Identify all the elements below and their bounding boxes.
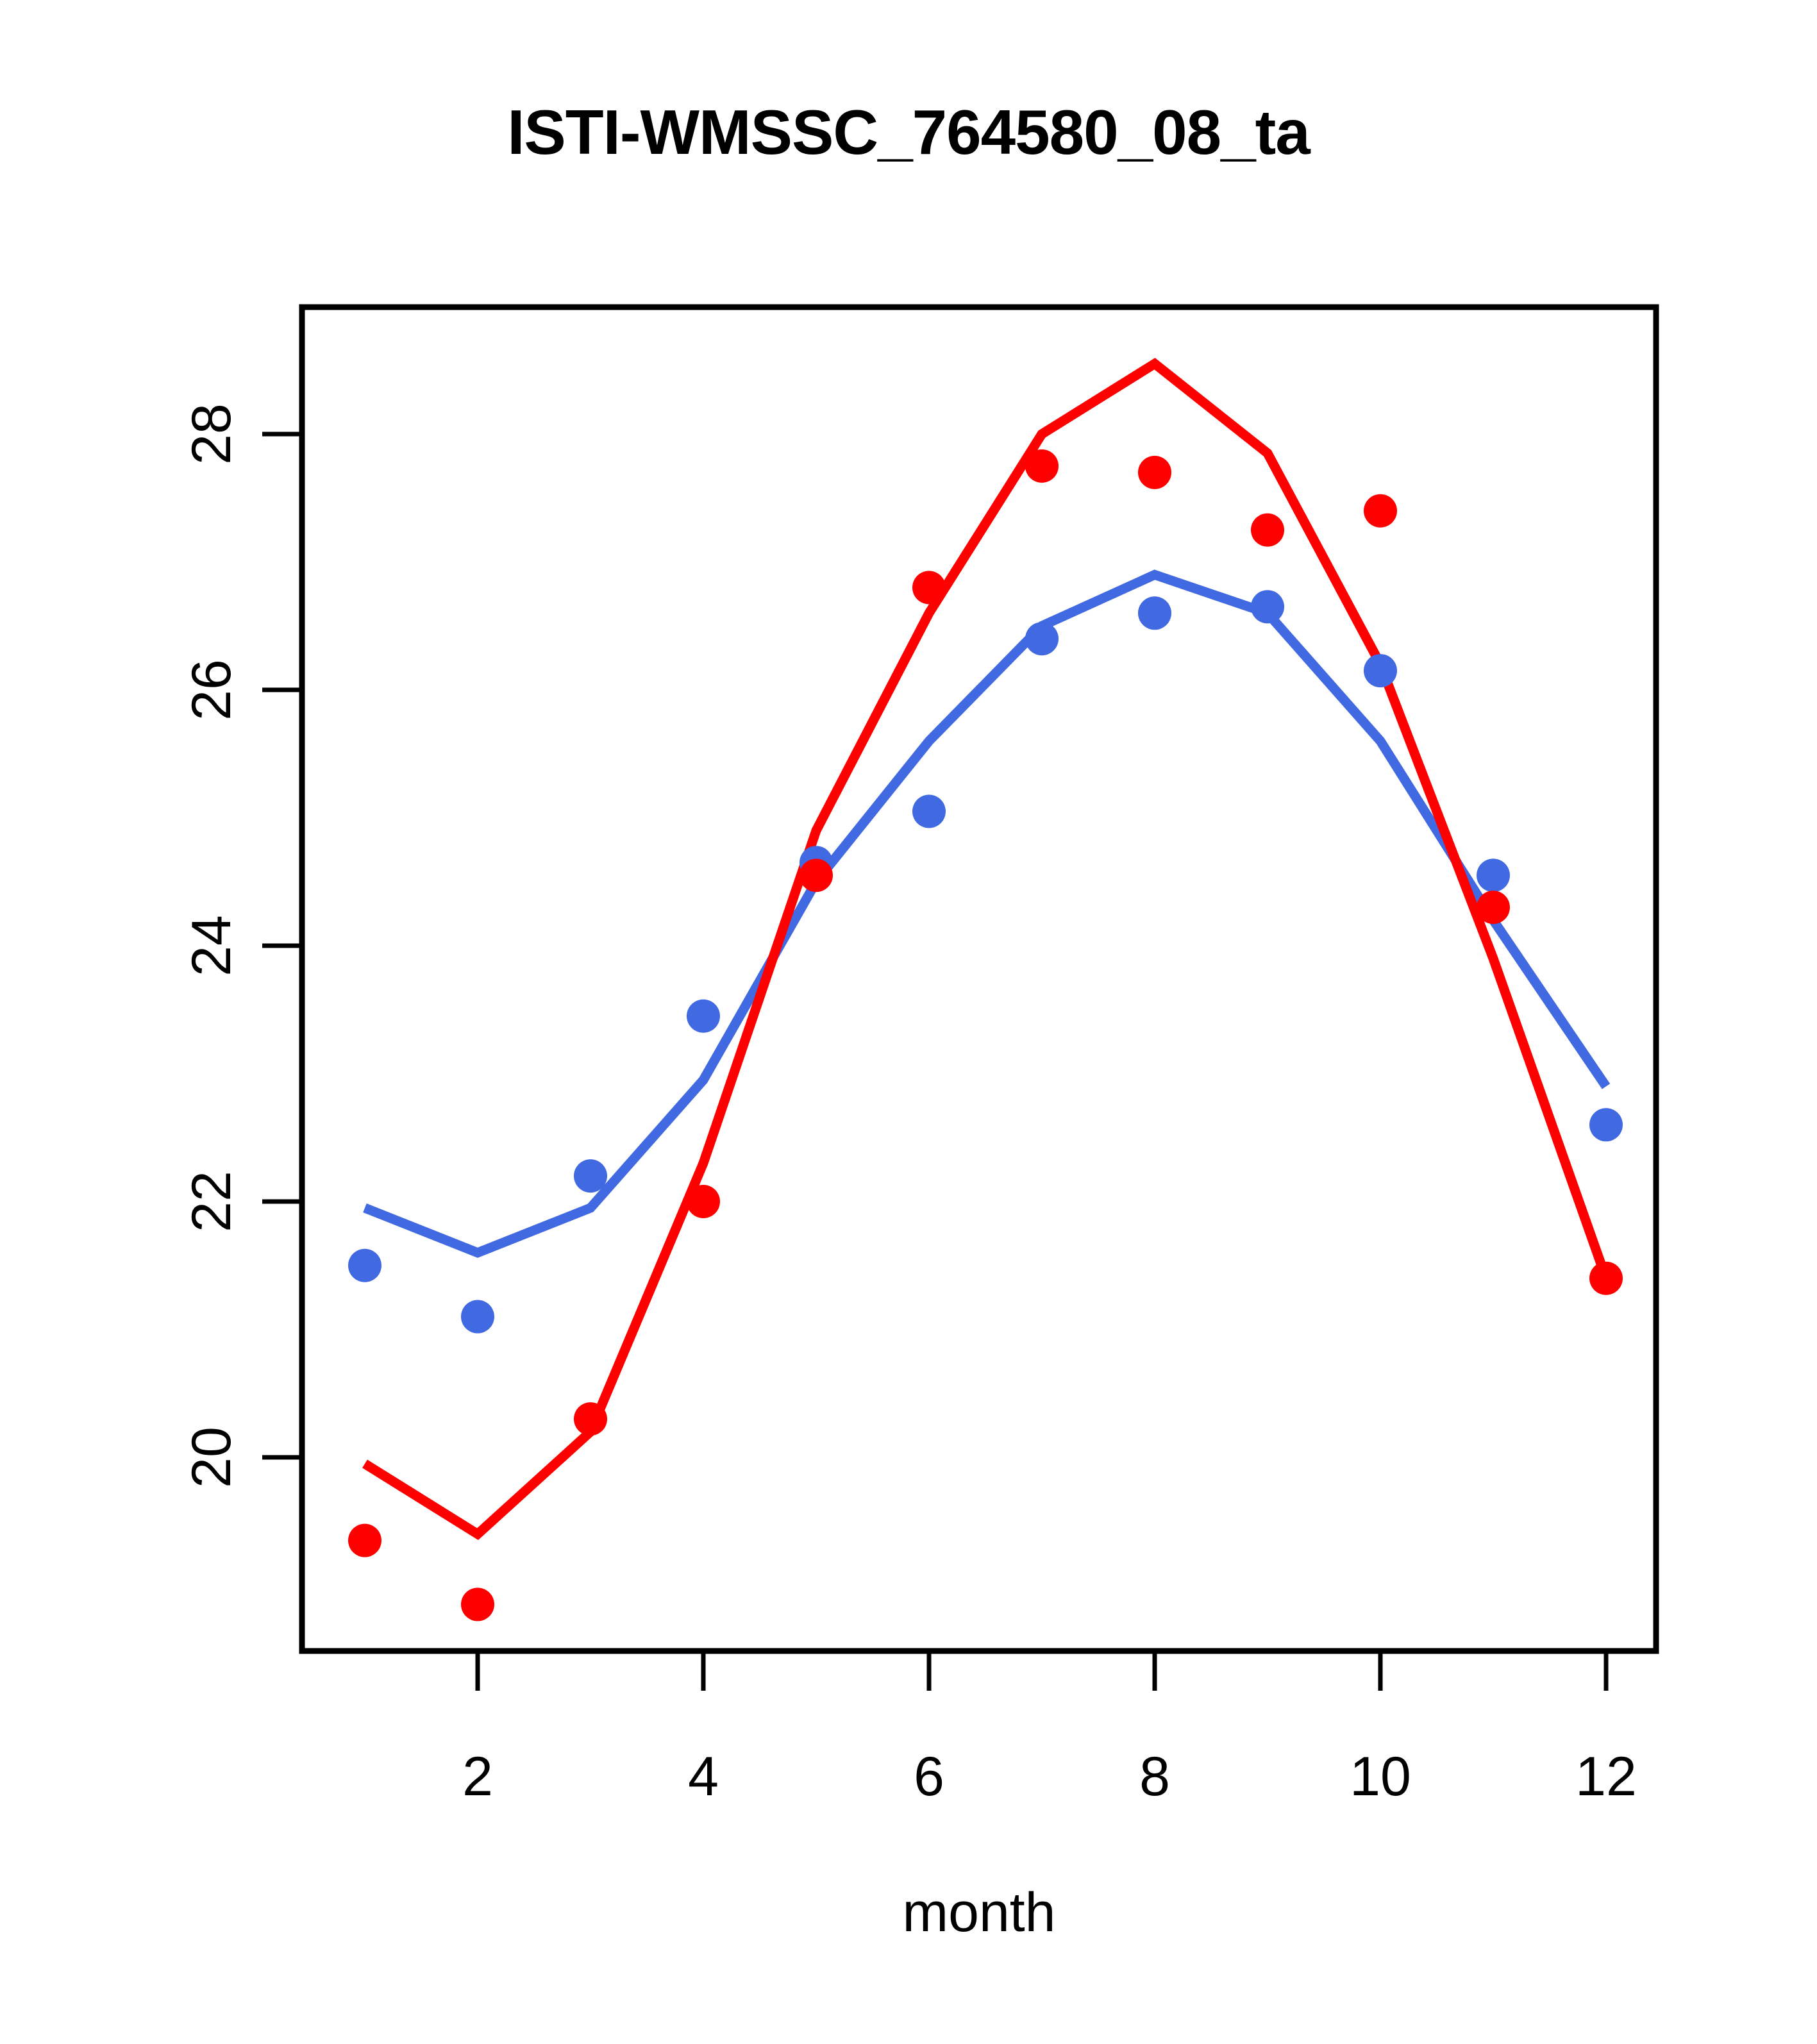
data-point [348,1524,381,1557]
x-tick-label: 2 [462,1746,493,1807]
data-point [1251,514,1284,547]
data-point [1138,596,1171,630]
data-point [912,571,946,604]
y-tick-label: 28 [181,403,242,465]
x-tick-label: 4 [688,1746,719,1807]
data-point [574,1402,607,1436]
y-tick-label: 20 [181,1427,242,1488]
data-point [1477,891,1510,924]
data-point [1477,859,1510,892]
data-point [800,859,833,892]
x-tick-label: 10 [1350,1746,1411,1807]
y-tick-label: 24 [181,915,242,976]
y-tick-label: 22 [181,1171,242,1232]
x-tick-label: 8 [1139,1746,1170,1807]
data-point [348,1249,381,1282]
data-point [461,1300,494,1334]
chart-plot: 24681012 2022242628 month [0,0,1817,2044]
series-blue-points [348,590,1623,1333]
data-point [1589,1108,1623,1141]
data-point [461,1587,494,1621]
series-blue-line [365,574,1606,1252]
x-axis-title: month [902,1882,1055,1943]
figure-panel: ISTI-WMSSC_764580_08_ta 24681012 2022242… [0,0,1817,2044]
y-axis-ticks: 2022242628 [181,403,302,1488]
data-point [687,1185,720,1218]
data-point [1025,622,1059,655]
data-point [1251,590,1284,623]
data-point [1364,654,1397,687]
x-tick-label: 12 [1575,1746,1637,1807]
data-point [912,795,946,828]
data-point [1364,494,1397,528]
data-point [1025,449,1059,483]
data-point [1589,1262,1623,1295]
x-axis-ticks: 24681012 [462,1651,1637,1807]
plot-frame [302,307,1656,1651]
data-point [687,1000,720,1033]
series-red-points [348,449,1623,1621]
y-tick-label: 26 [181,659,242,721]
series-red-line [365,364,1606,1534]
x-tick-label: 6 [914,1746,944,1807]
series-layer [348,364,1623,1621]
data-point [1138,456,1171,489]
data-point [574,1159,607,1193]
